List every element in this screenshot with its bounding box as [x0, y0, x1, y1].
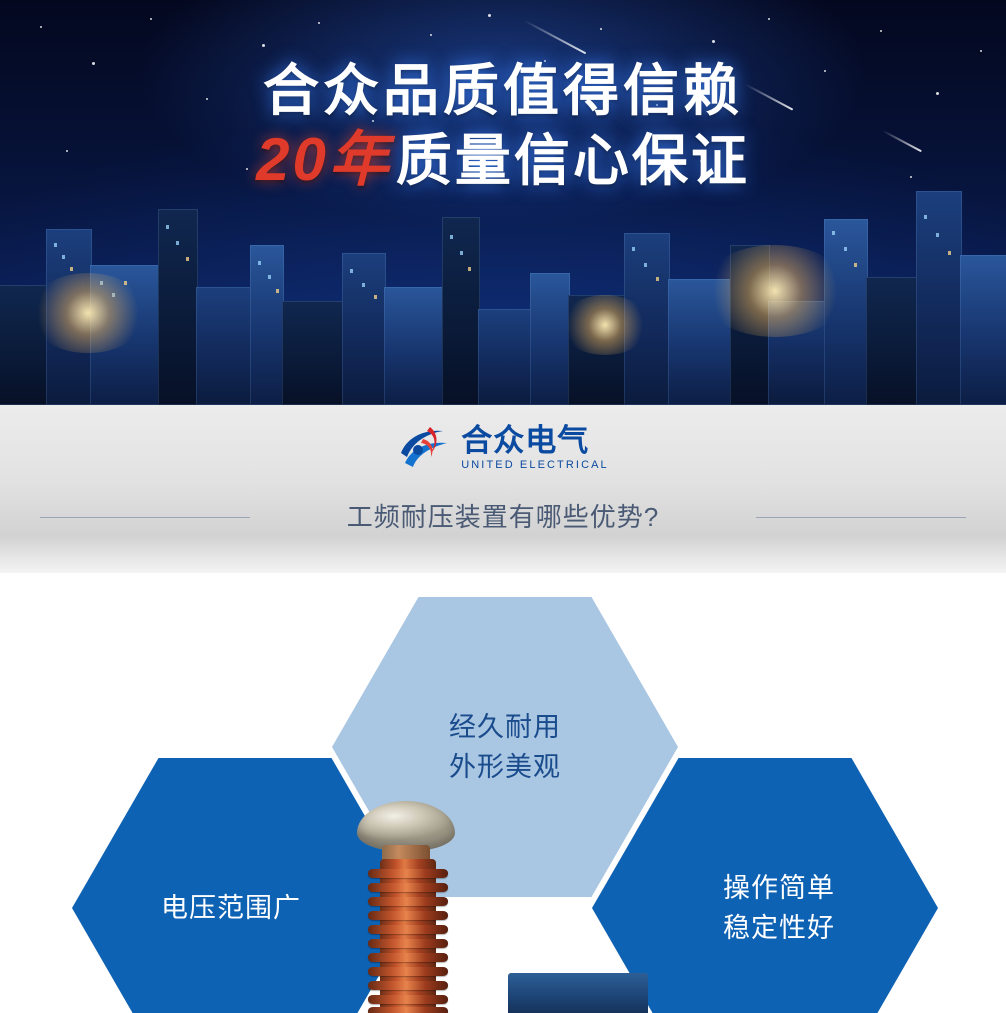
- bushing-cap: [357, 801, 455, 851]
- hero-headline-secondary: 20年质量信心保证: [0, 124, 1006, 197]
- brand-strip: 合众电气 UNITED ELECTRICAL 工频耐压装置有哪些优势?: [0, 405, 1006, 573]
- advantage-label: 经久耐用 外形美观: [449, 707, 561, 787]
- brand-name-cn: 合众电气: [461, 425, 609, 456]
- hero-title-block: 合众品质值得信赖 20年质量信心保证: [0, 58, 1006, 197]
- advantage-label: 操作简单 稳定性好: [723, 868, 835, 948]
- hero-banner: 合众品质值得信赖 20年质量信心保证: [0, 0, 1006, 405]
- advantages-section: 电压范围广 操作简单 稳定性好 经久耐用 外形美观: [0, 573, 1006, 1013]
- high-voltage-bushing-insulator-image: [352, 801, 462, 1013]
- advantage-label: 电压范围广: [161, 888, 301, 928]
- united-electrical-swoosh-icon: [397, 423, 453, 473]
- brand-name-en: UNITED ELECTRICAL: [461, 460, 609, 471]
- product-detail-page: 合众品质值得信赖 20年质量信心保证 合众电气 UNITED EL: [0, 0, 1006, 1013]
- brand-logo: 合众电气 UNITED ELECTRICAL: [0, 423, 1006, 473]
- hero-headline-tail: 质量信心保证: [396, 129, 750, 192]
- equipment-base-unit-image: [508, 973, 648, 1013]
- hero-headline-primary: 合众品质值得信赖: [0, 58, 1006, 124]
- section-question: 工频耐压装置有哪些优势?: [0, 497, 1006, 534]
- hero-years-highlight: 20年: [256, 126, 392, 193]
